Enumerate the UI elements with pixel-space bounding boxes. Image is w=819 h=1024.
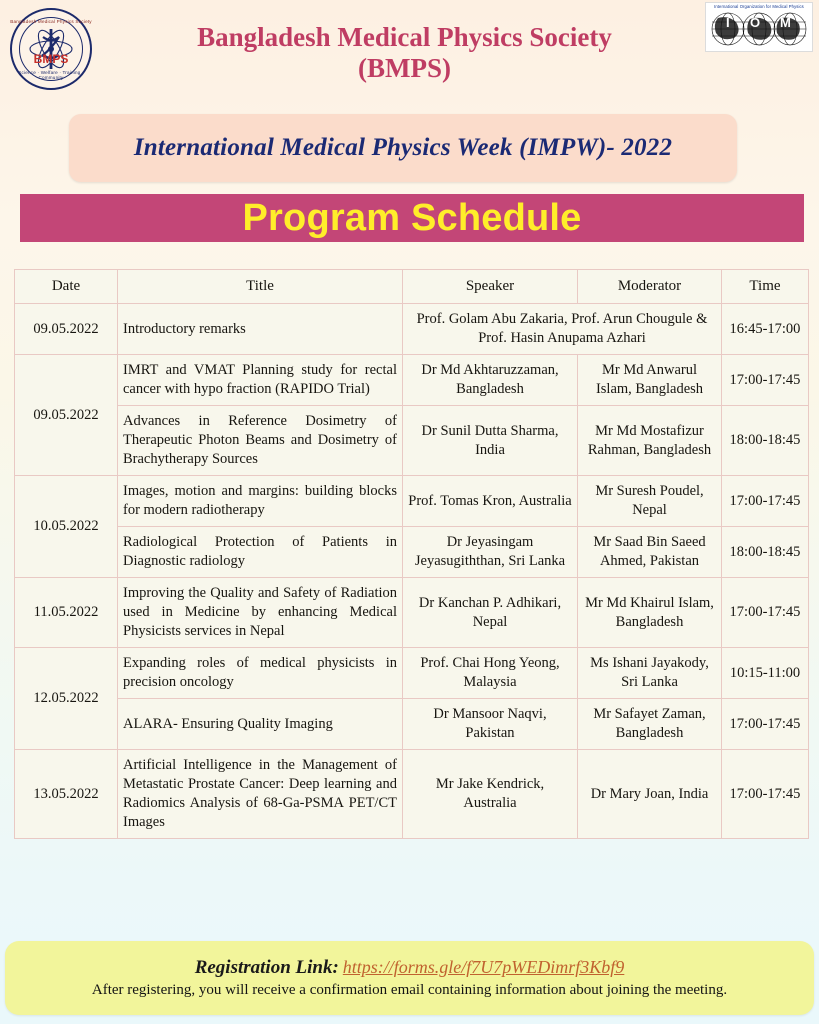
cell-moderator: Ms Ishani Jayakody, Sri Lanka bbox=[578, 648, 722, 699]
svg-text:O: O bbox=[750, 15, 760, 30]
registration-line: Registration Link:https://forms.gle/f7U7… bbox=[195, 957, 625, 979]
cell-time: 17:00-17:45 bbox=[722, 750, 809, 839]
registration-note: After registering, you will receive a co… bbox=[92, 982, 727, 999]
table-row: 11.05.2022Improving the Quality and Safe… bbox=[15, 578, 809, 648]
page-title: Bangladesh Medical Physics Society (BMPS… bbox=[110, 22, 699, 84]
seal-bmps-word: BMPS bbox=[10, 52, 92, 66]
cell-title: Expanding roles of medical physicists in… bbox=[118, 648, 403, 699]
cell-speaker: Dr Md Akhtaruzzaman, Bangladesh bbox=[403, 355, 578, 406]
cell-time: 10:15-11:00 bbox=[722, 648, 809, 699]
table-row: 09.05.2022IMRT and VMAT Planning study f… bbox=[15, 355, 809, 406]
registration-label: Registration Link: bbox=[195, 957, 339, 978]
iomp-logo: International Organization for Medical P… bbox=[705, 2, 813, 52]
cell-title: Introductory remarks bbox=[118, 304, 403, 355]
cell-title: Radiological Protection of Patients in D… bbox=[118, 527, 403, 578]
table-row: Advances in Reference Dosimetry of Thera… bbox=[15, 406, 809, 476]
cell-time: 18:00-18:45 bbox=[722, 406, 809, 476]
table-row: 13.05.2022Artificial Intelligence in the… bbox=[15, 750, 809, 839]
cell-speaker: Mr Jake Kendrick, Australia bbox=[403, 750, 578, 839]
cell-moderator: Mr Md Anwarul Islam, Bangladesh bbox=[578, 355, 722, 406]
table-header-row: Date Title Speaker Moderator Time bbox=[15, 270, 809, 304]
cell-title: Improving the Quality and Safety of Radi… bbox=[118, 578, 403, 648]
cell-moderator: Mr Safayet Zaman, Bangladesh bbox=[578, 699, 722, 750]
svg-text:I: I bbox=[726, 15, 730, 30]
cell-title: Advances in Reference Dosimetry of Thera… bbox=[118, 406, 403, 476]
cell-time: 17:00-17:45 bbox=[722, 355, 809, 406]
cell-date: 12.05.2022 bbox=[15, 648, 118, 750]
table-row: 10.05.2022Images, motion and margins: bu… bbox=[15, 476, 809, 527]
cell-speaker: Dr Sunil Dutta Sharma, India bbox=[403, 406, 578, 476]
registration-link[interactable]: https://forms.gle/f7U7pWEDimrf3Kbf9 bbox=[343, 957, 625, 977]
schedule-table-container: Date Title Speaker Moderator Time 09.05.… bbox=[14, 269, 808, 839]
table-row: 12.05.2022Expanding roles of medical phy… bbox=[15, 648, 809, 699]
cell-speaker: Dr Jeyasingam Jeyasugiththan, Sri Lanka bbox=[403, 527, 578, 578]
seal-arc-top-text: Bangladesh Medical Physics Society bbox=[10, 19, 92, 24]
cell-date: 11.05.2022 bbox=[15, 578, 118, 648]
cell-time: 16:45-17:00 bbox=[722, 304, 809, 355]
table-body: 09.05.2022Introductory remarksProf. Gola… bbox=[15, 304, 809, 839]
cell-moderator: Dr Mary Joan, India bbox=[578, 750, 722, 839]
cell-time: 17:00-17:45 bbox=[722, 578, 809, 648]
cell-title: Artificial Intelligence in the Managemen… bbox=[118, 750, 403, 839]
svg-text:M: M bbox=[780, 15, 791, 30]
cell-time: 17:00-17:45 bbox=[722, 699, 809, 750]
cell-date: 10.05.2022 bbox=[15, 476, 118, 578]
cell-speaker: Dr Kanchan P. Adhikari, Nepal bbox=[403, 578, 578, 648]
column-header-moderator: Moderator bbox=[578, 270, 722, 304]
impw-banner-text: International Medical Physics Week (IMPW… bbox=[134, 134, 672, 162]
table-row: ALARA- Ensuring Quality ImagingDr Mansoo… bbox=[15, 699, 809, 750]
cell-time: 18:00-18:45 bbox=[722, 527, 809, 578]
cell-moderator: Mr Suresh Poudel, Nepal bbox=[578, 476, 722, 527]
program-schedule-banner: Program Schedule bbox=[20, 194, 804, 242]
cell-speaker: Prof. Tomas Kron, Australia bbox=[403, 476, 578, 527]
page-header: Bangladesh Medical Physics Society BMPS … bbox=[0, 0, 819, 108]
cell-title: Images, motion and margins: building blo… bbox=[118, 476, 403, 527]
cell-moderator: Mr Md Mostafizur Rahman, Bangladesh bbox=[578, 406, 722, 476]
iomp-globe-icon: I O M bbox=[706, 10, 812, 48]
cell-moderator: Mr Saad Bin Saeed Ahmed, Pakistan bbox=[578, 527, 722, 578]
column-header-time: Time bbox=[722, 270, 809, 304]
schedule-table: Date Title Speaker Moderator Time 09.05.… bbox=[14, 269, 809, 839]
registration-footer: Registration Link:https://forms.gle/f7U7… bbox=[5, 941, 814, 1015]
cell-speaker: Prof. Chai Hong Yeong, Malaysia bbox=[403, 648, 578, 699]
cell-date: 09.05.2022 bbox=[15, 355, 118, 476]
cell-title: ALARA- Ensuring Quality Imaging bbox=[118, 699, 403, 750]
bmps-society-logo: Bangladesh Medical Physics Society BMPS … bbox=[10, 8, 92, 90]
cell-title: IMRT and VMAT Planning study for rectal … bbox=[118, 355, 403, 406]
society-title-line1: Bangladesh Medical Physics Society bbox=[110, 22, 699, 53]
seal-arc-bottom-text: Science · Welfare · Training · Community bbox=[10, 70, 92, 80]
column-header-speaker: Speaker bbox=[403, 270, 578, 304]
program-schedule-title: Program Schedule bbox=[243, 197, 582, 240]
impw-banner: International Medical Physics Week (IMPW… bbox=[69, 114, 737, 182]
cell-time: 17:00-17:45 bbox=[722, 476, 809, 527]
cell-speaker: Dr Mansoor Naqvi, Pakistan bbox=[403, 699, 578, 750]
cell-date: 13.05.2022 bbox=[15, 750, 118, 839]
table-row: Radiological Protection of Patients in D… bbox=[15, 527, 809, 578]
cell-speaker: Prof. Golam Abu Zakaria, Prof. Arun Chou… bbox=[403, 304, 722, 355]
iomp-logo-caption: International Organization for Medical P… bbox=[706, 3, 812, 10]
column-header-title: Title bbox=[118, 270, 403, 304]
cell-moderator: Mr Md Khairul Islam, Bangladesh bbox=[578, 578, 722, 648]
column-header-date: Date bbox=[15, 270, 118, 304]
table-header: Date Title Speaker Moderator Time bbox=[15, 270, 809, 304]
table-row: 09.05.2022Introductory remarksProf. Gola… bbox=[15, 304, 809, 355]
society-title-line2: (BMPS) bbox=[110, 53, 699, 84]
cell-date: 09.05.2022 bbox=[15, 304, 118, 355]
